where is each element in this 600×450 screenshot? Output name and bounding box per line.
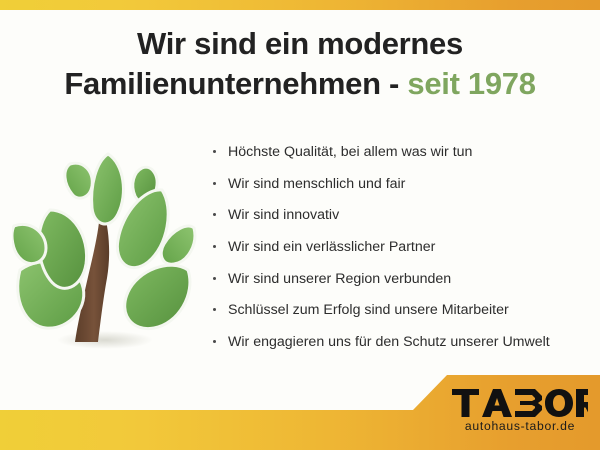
tree-leaf [92,154,124,224]
value-list: Höchste Qualität, bei allem was wir tun … [212,143,592,365]
slide-root: Wir sind ein modernes Familienunternehme… [0,0,600,450]
list-item-label: Wir sind unserer Region verbunden [228,271,451,287]
bullet-dot [213,277,216,280]
list-item-label: Wir engagieren uns für den Schutz unsere… [228,334,550,350]
bullet-dot [213,245,216,248]
list-item-label: Wir sind innovativ [228,207,339,223]
bullet-dot [213,182,216,185]
bullet-dot [213,213,216,216]
brand-banner: autohaus-tabor.de [0,370,600,450]
headline-accent-year: seit 1978 [407,66,535,101]
list-item: Wir sind menschlich und fair [212,175,592,194]
headline-line-2-prefix: Familienunternehmen - [64,66,407,101]
tree-leaf [65,163,92,198]
list-item: Wir engagieren uns für den Schutz unsere… [212,333,592,352]
page-title: Wir sind ein modernes Familienunternehme… [0,24,600,103]
headline-line-2: Familienunternehmen - seit 1978 [0,64,600,104]
bullet-dot [213,308,216,311]
tree-leaf [125,265,190,328]
bullet-dot [213,340,216,343]
tabor-wordmark-icon [452,388,588,418]
list-item: Wir sind innovativ [212,206,592,225]
list-item: Schlüssel zum Erfolg sind unsere Mitarbe… [212,301,592,320]
tabor-logo[interactable]: autohaus-tabor.de [452,388,592,433]
list-item-label: Wir sind menschlich und fair [228,176,405,192]
list-item: Wir sind unserer Region verbunden [212,270,592,289]
list-item-label: Wir sind ein verlässlicher Partner [228,239,435,255]
list-item: Höchste Qualität, bei allem was wir tun [212,143,592,162]
headline-line-1: Wir sind ein modernes [137,26,463,61]
list-item-label: Schlüssel zum Erfolg sind unsere Mitarbe… [228,302,509,318]
list-item-label: Höchste Qualität, bei allem was wir tun [228,144,472,160]
tree-shadow [57,331,153,349]
tree-icon [12,150,198,358]
bullet-dot [213,150,216,153]
top-gradient-bar [0,0,600,10]
logo-tagline: autohaus-tabor.de [452,419,588,433]
list-item: Wir sind ein verlässlicher Partner [212,238,592,257]
